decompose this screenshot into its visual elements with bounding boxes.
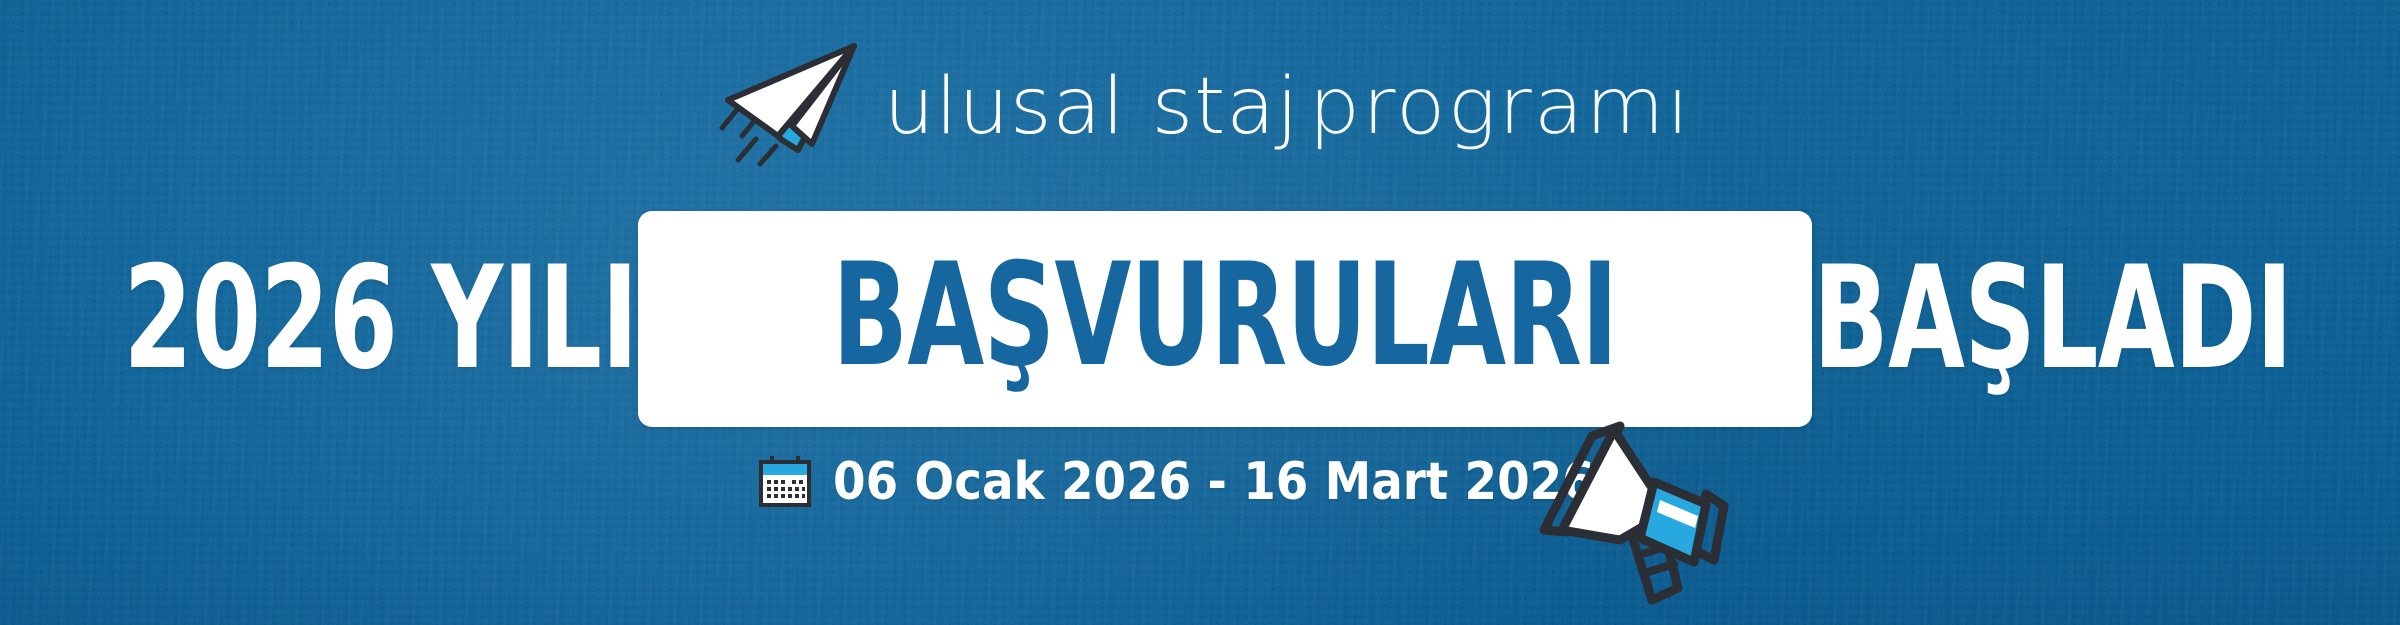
logo-lockup: ulusal staj programı xyxy=(0,42,2400,172)
date-range-text: 06 Ocak 2026 - 16 Mart 2026 xyxy=(833,452,1595,512)
calendar-icon xyxy=(757,454,813,510)
headline-highlight-box: BAŞVURULARI xyxy=(638,211,1812,427)
headline-before: 2026 YILI xyxy=(123,248,637,390)
logo-text: ulusal staj programı xyxy=(888,68,1683,146)
promo-banner: ulusal staj programı 2026 YILI BAŞVURULA… xyxy=(0,0,2400,625)
megaphone-icon xyxy=(1528,420,1778,620)
date-row: 06 Ocak 2026 - 16 Mart 2026 xyxy=(0,440,2400,524)
paper-plane-icon xyxy=(716,40,868,168)
headline-row: 2026 YILI BAŞVURULARI BAŞLADI xyxy=(0,233,2400,405)
headline-highlight-text: BAŞVURULARI xyxy=(832,245,1617,387)
logo-sub-text: programı xyxy=(1308,68,1691,146)
headline: 2026 YILI BAŞVURULARI BAŞLADI xyxy=(0,211,2400,427)
logo-main-text: ulusal staj xyxy=(884,68,1299,146)
headline-after: BAŞLADI xyxy=(1813,248,2292,390)
